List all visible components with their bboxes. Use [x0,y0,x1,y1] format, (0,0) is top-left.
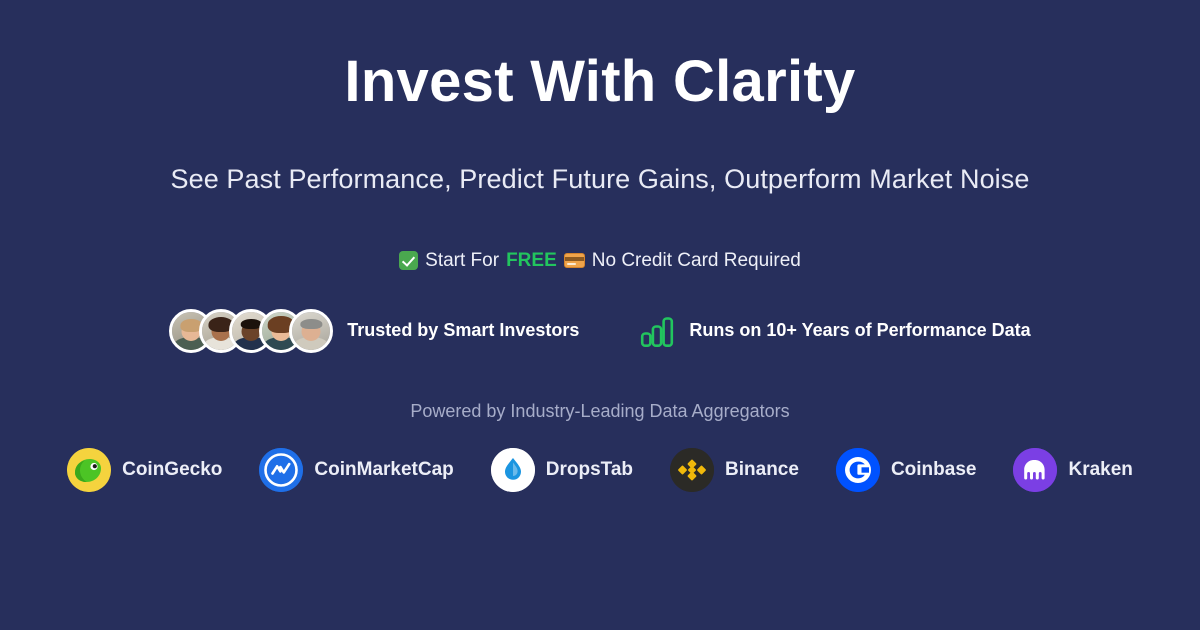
partner-name: Binance [725,459,799,481]
trusted-investors-group: Trusted by Smart Investors [169,309,579,353]
partner-name: Kraken [1068,459,1132,481]
coinbase-logo-icon [836,448,880,492]
trust-indicators-row: Trusted by Smart Investors Runs on 10+ Y… [169,309,1030,353]
partner-binance[interactable]: Binance [670,448,799,492]
avatar [289,309,333,353]
credit-card-icon [564,253,585,268]
partner-coingecko[interactable]: CoinGecko [67,448,222,492]
partner-name: Coinbase [891,459,977,481]
partner-kraken[interactable]: Kraken [1013,448,1132,492]
page-subtitle: See Past Performance, Predict Future Gai… [170,164,1029,195]
coingecko-logo-icon [67,448,111,492]
partner-logos-row: CoinGecko CoinMarketCap DropsTab [67,448,1133,492]
free-badge-suffix: No Credit Card Required [592,250,801,272]
hero-banner: Invest With Clarity See Past Performance… [0,0,1200,630]
avatar-image [292,312,330,350]
partner-name: DropsTab [546,459,633,481]
free-badge-prefix: Start For [425,250,499,272]
partner-name: CoinGecko [122,459,222,481]
white-heavy-check-mark-icon [399,251,418,270]
free-badge-highlight: FREE [506,250,557,272]
page-title: Invest With Clarity [344,50,855,114]
trusted-investors-label: Trusted by Smart Investors [347,320,579,341]
partner-coinbase[interactable]: Coinbase [836,448,977,492]
partner-coinmarketcap[interactable]: CoinMarketCap [259,448,453,492]
free-trial-badge: Start For FREE No Credit Card Required [399,250,801,272]
performance-data-label: Runs on 10+ Years of Performance Data [689,320,1030,341]
partner-dropstab[interactable]: DropsTab [491,448,633,492]
avatar-group [169,309,347,353]
kraken-logo-icon [1013,448,1057,492]
dropstab-logo-icon [491,448,535,492]
performance-data-group: Runs on 10+ Years of Performance Data [639,313,1030,349]
powered-by-label: Powered by Industry-Leading Data Aggrega… [410,401,789,422]
binance-logo-icon [670,448,714,492]
partner-name: CoinMarketCap [314,459,453,481]
coinmarketcap-logo-icon [259,448,303,492]
bar-chart-icon [639,313,675,349]
